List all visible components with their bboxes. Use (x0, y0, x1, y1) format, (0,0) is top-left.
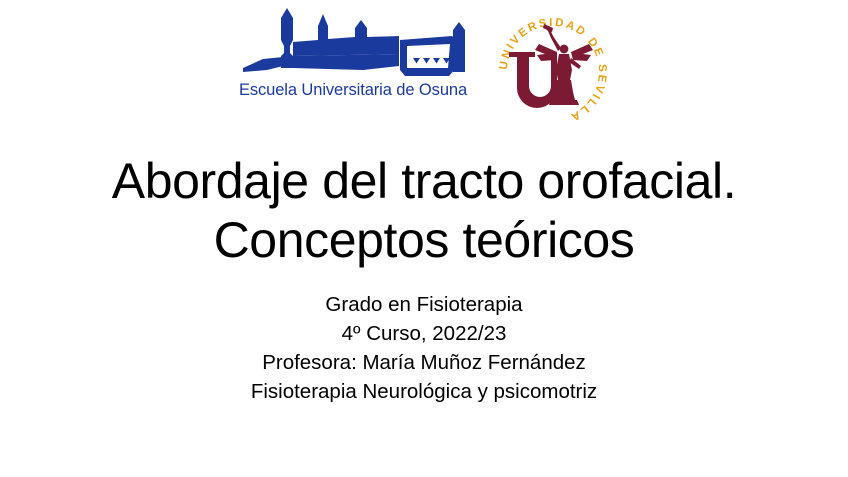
title-line-1: Abordaje del tracto orofacial. (0, 152, 848, 211)
slide-title: Abordaje del tracto orofacial. Conceptos… (0, 152, 848, 270)
universidad-de-sevilla-seal-icon: UNIVERSIDAD DE SEVILLA (495, 8, 611, 124)
logo-band: Escuela Universitaria de Osuna UNIVERSID… (0, 6, 848, 126)
subtitle-line-department: Fisioterapia Neurológica y psicomotriz (0, 377, 848, 406)
subtitle-line-professor: Profesora: María Muñoz Fernández (0, 348, 848, 377)
presentation-title-slide: Escuela Universitaria de Osuna UNIVERSID… (0, 0, 848, 477)
osuna-logo-caption: Escuela Universitaria de Osuna (239, 82, 467, 99)
universidad-de-sevilla-logo: UNIVERSIDAD DE SEVILLA (495, 8, 611, 124)
subtitle-line-degree: Grado en Fisioterapia (0, 290, 848, 319)
subtitle-line-course: 4º Curso, 2022/23 (0, 319, 848, 348)
osuna-building-silhouette-icon (237, 6, 469, 84)
slide-subtitle: Grado en Fisioterapia 4º Curso, 2022/23 … (0, 290, 848, 406)
title-line-2: Conceptos teóricos (0, 211, 848, 270)
escuela-universitaria-de-osuna-logo: Escuela Universitaria de Osuna (237, 6, 469, 116)
